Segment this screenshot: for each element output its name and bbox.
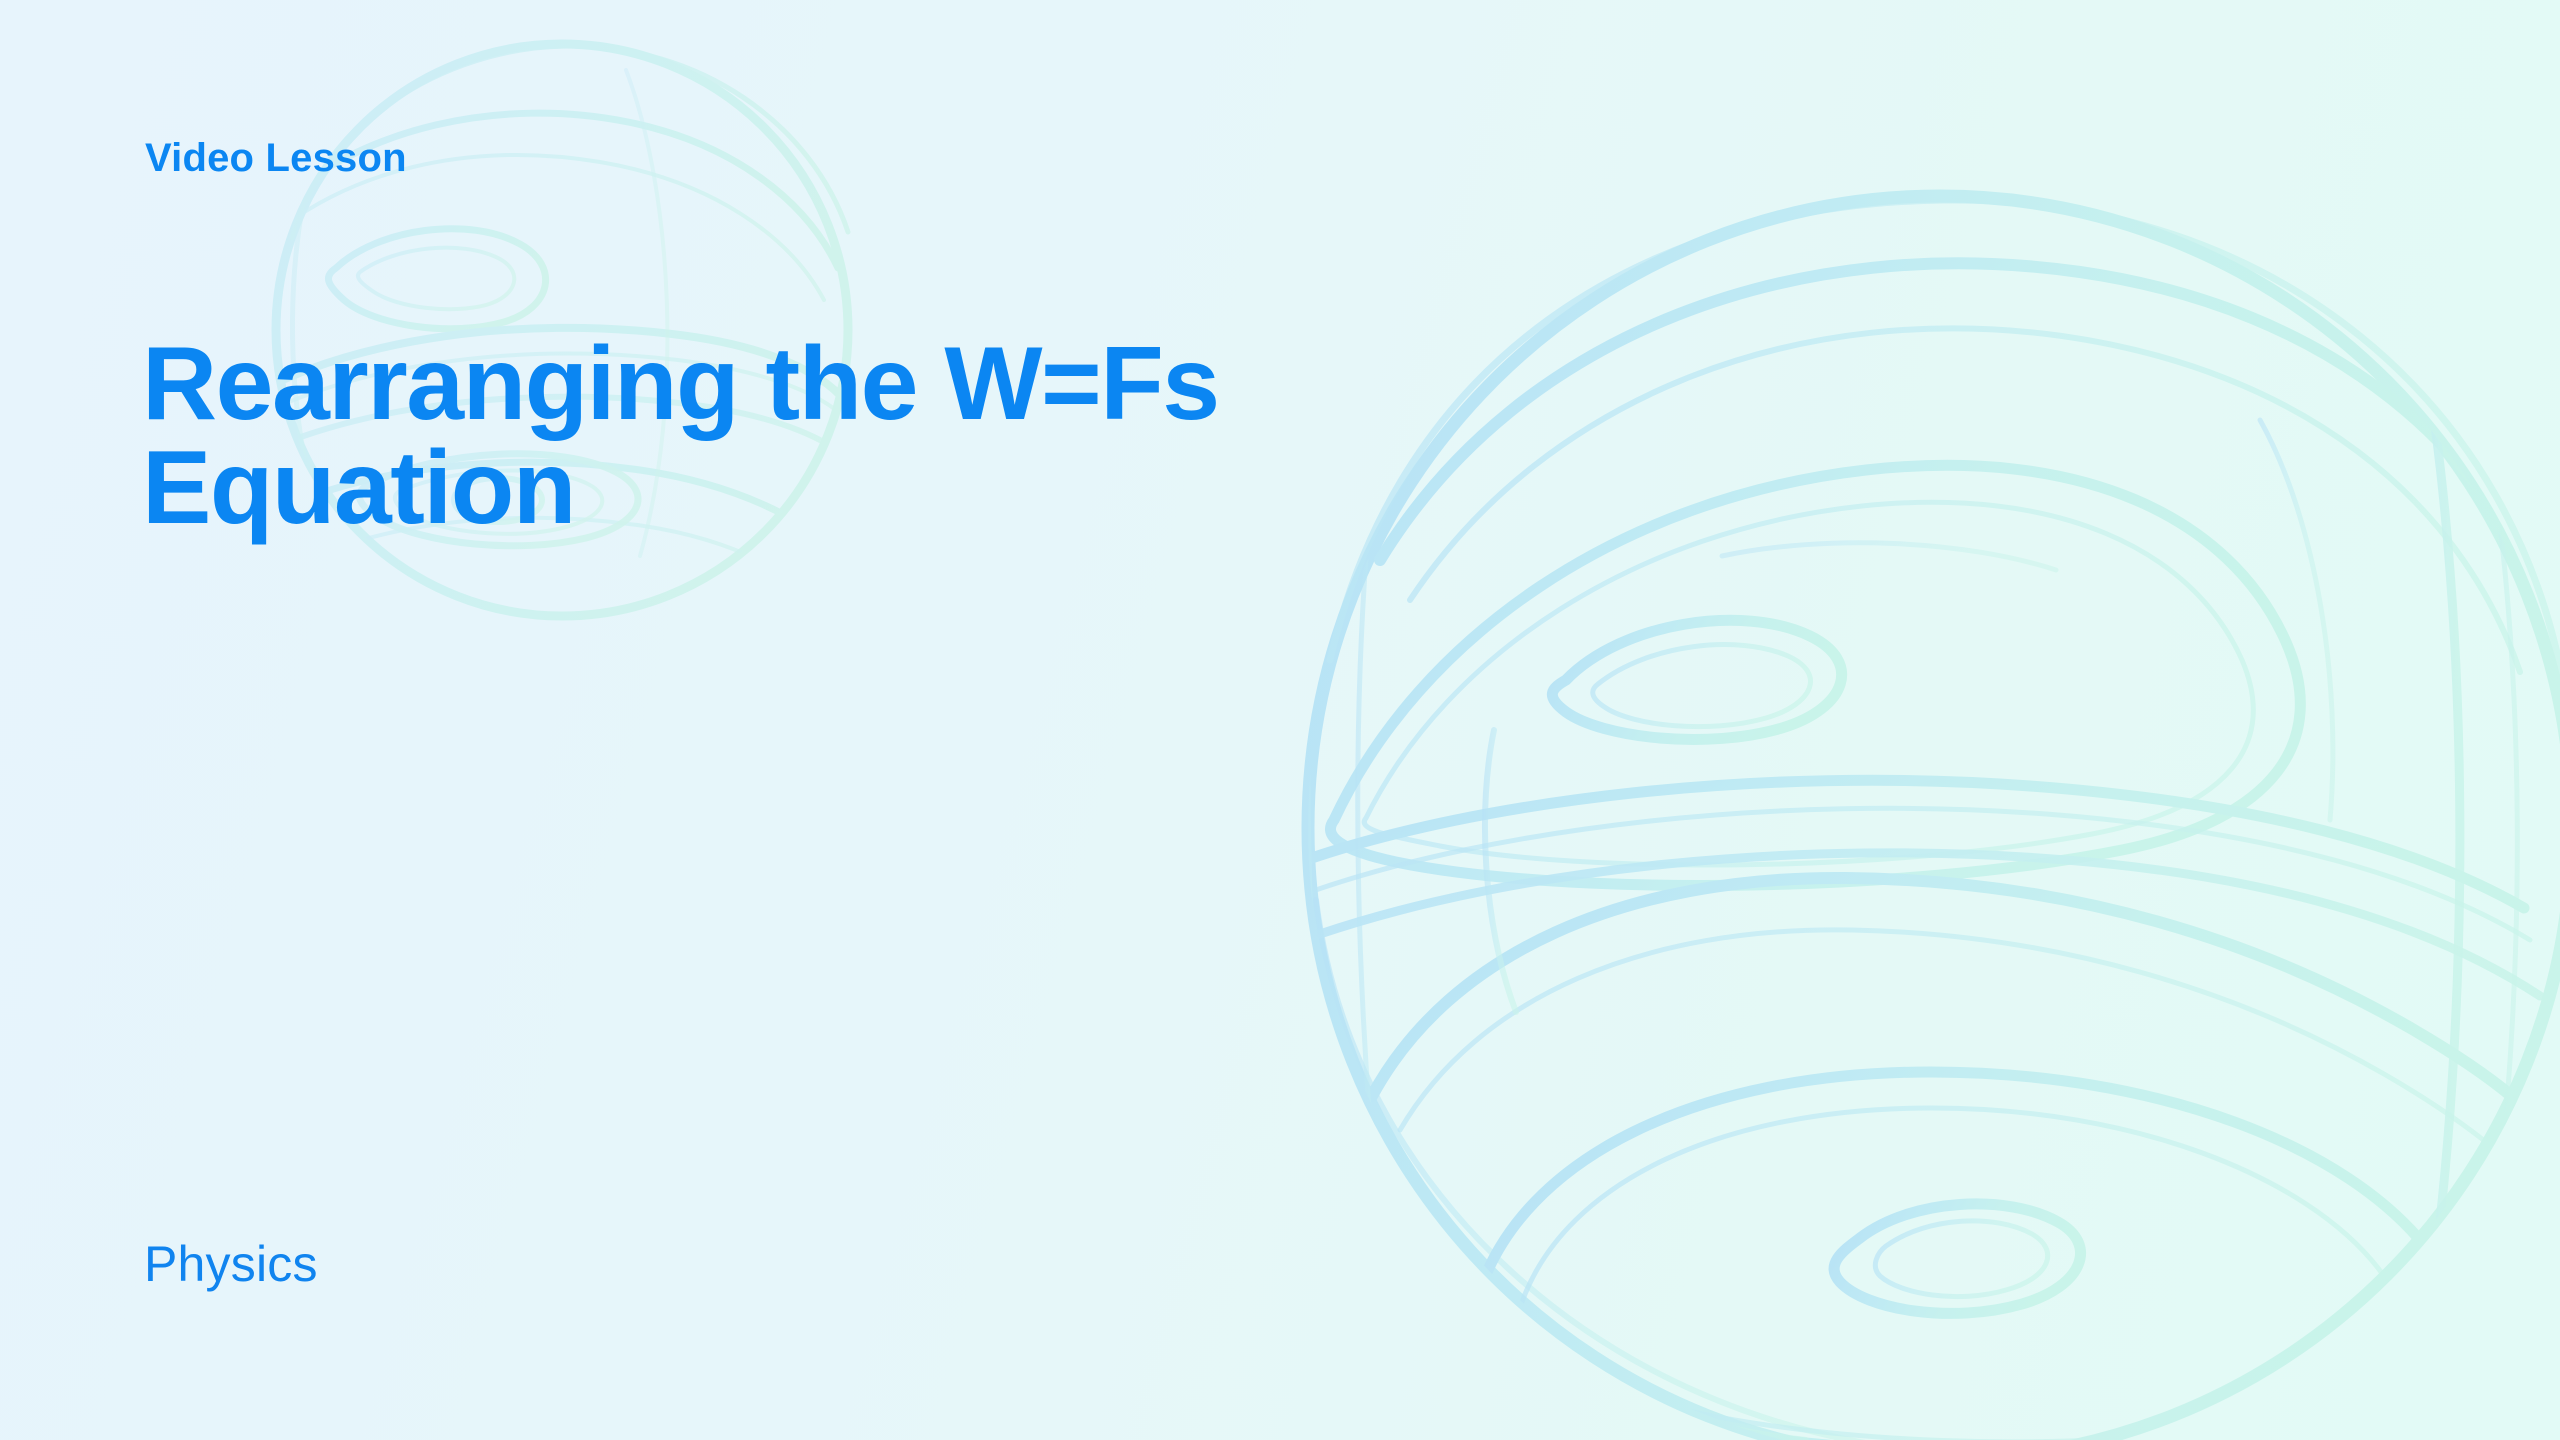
lesson-title-card: Video Lesson Rearranging the W=Fs Equati…: [0, 0, 2560, 1440]
page-title-line-2: Equation: [142, 436, 1442, 540]
subject-label: Physics: [144, 1235, 318, 1293]
page-title: Rearranging the W=Fs Equation: [142, 332, 1442, 540]
page-title-line-1: Rearranging the W=Fs: [142, 332, 1442, 436]
eyebrow-label: Video Lesson: [145, 136, 407, 181]
title-content: Video Lesson Rearranging the W=Fs Equati…: [0, 0, 2560, 1440]
